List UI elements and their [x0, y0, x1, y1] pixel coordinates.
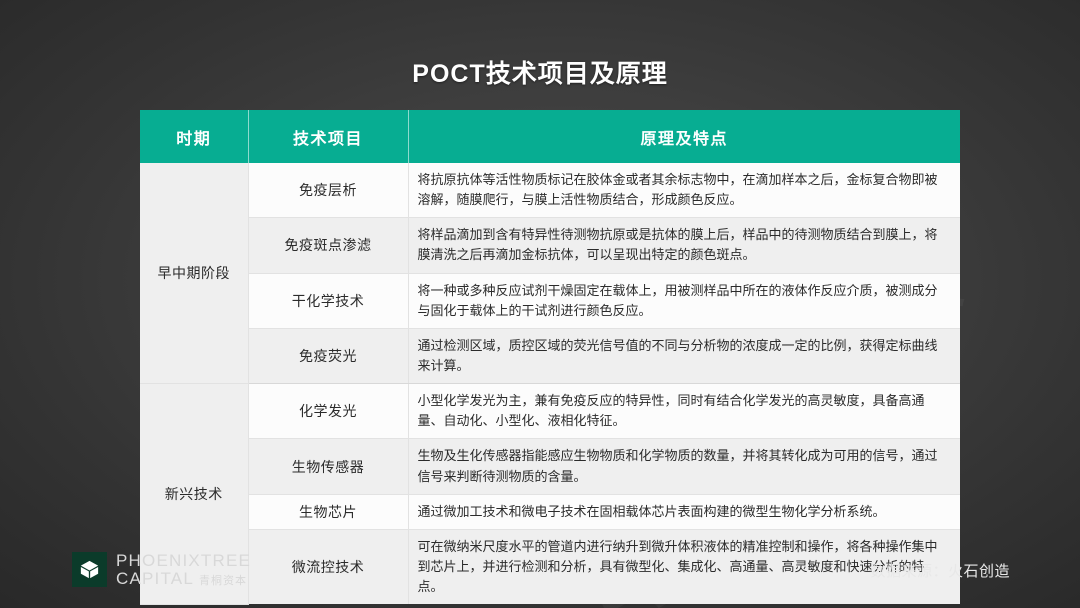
- technology-cell: 免疫荧光: [248, 328, 408, 383]
- logo-line-two-cn: 青桐资本: [199, 576, 247, 587]
- technology-cell: 免疫斑点渗滤: [248, 218, 408, 273]
- logo-line-one: PHOENIXTREE: [116, 552, 251, 570]
- table-row: 免疫荧光 通过检测区域，质控区域的荧光信号值的不同与分析物的浓度成一定的比例，获…: [140, 328, 960, 383]
- column-header-technology: 技术项目: [248, 110, 408, 163]
- slide-canvas: 青桐资本 青 POCT技术项目及原理 时期 技术项目 原理及特点 早中期阶段: [0, 0, 1080, 608]
- logo-line-two: CAPITAL 青桐资本: [116, 570, 251, 588]
- principle-cell: 小型化学发光为主，兼有免疫反应的特异性，同时有结合化学发光的高灵敏度，具备高通量…: [408, 384, 960, 439]
- principle-cell: 通过检测区域，质控区域的荧光信号值的不同与分析物的浓度成一定的比例，获得定标曲线…: [408, 328, 960, 383]
- logo-line-two-en: CAPITAL: [116, 570, 194, 588]
- technology-cell: 生物传感器: [248, 439, 408, 494]
- company-logo: PHOENIXTREE CAPITAL 青桐资本: [72, 552, 251, 587]
- table-header-row: 时期 技术项目 原理及特点: [140, 110, 960, 163]
- principle-cell: 将抗原抗体等活性物质标记在胶体金或者其余标志物中，在滴加样本之后，金标复合物即被…: [408, 163, 960, 218]
- principle-cell: 生物及生化传感器指能感应生物物质和化学物质的数量，并将其转化成为可用的信号，通过…: [408, 439, 960, 494]
- technology-cell: 生物芯片: [248, 494, 408, 529]
- table-row: 生物传感器 生物及生化传感器指能感应生物物质和化学物质的数量，并将其转化成为可用…: [140, 439, 960, 494]
- table-row: 干化学技术 将一种或多种反应试剂干燥固定在载体上，用被测样品中所在的液体作反应介…: [140, 273, 960, 328]
- technology-cell: 干化学技术: [248, 273, 408, 328]
- poct-table-container: 时期 技术项目 原理及特点 早中期阶段 免疫层析 将抗原抗体等活性物质标记在胶体…: [140, 110, 960, 605]
- poct-table: 时期 技术项目 原理及特点 早中期阶段 免疫层析 将抗原抗体等活性物质标记在胶体…: [140, 110, 960, 605]
- technology-cell: 免疫层析: [248, 163, 408, 218]
- table-row: 免疫斑点渗滤 将样品滴加到含有特异性待测物抗原或是抗体的膜上后，样品中的待测物质…: [140, 218, 960, 273]
- table-header: 时期 技术项目 原理及特点: [140, 110, 960, 163]
- data-source-label: 数据来源：火石创造: [870, 560, 1010, 581]
- technology-cell: 化学发光: [248, 384, 408, 439]
- column-header-principle: 原理及特点: [408, 110, 960, 163]
- table-body: 早中期阶段 免疫层析 将抗原抗体等活性物质标记在胶体金或者其余标志物中，在滴加样…: [140, 163, 960, 604]
- column-header-period: 时期: [140, 110, 248, 163]
- page-title: POCT技术项目及原理: [0, 54, 1080, 90]
- logo-wordmark: PHOENIXTREE CAPITAL 青桐资本: [116, 552, 251, 587]
- period-cell-early: 早中期阶段: [140, 163, 248, 384]
- phoenixtree-logo-icon: [72, 552, 107, 587]
- slide-footer: PHOENIXTREE CAPITAL 青桐资本 数据来源：火石创造: [0, 540, 1080, 608]
- principle-cell: 将一种或多种反应试剂干燥固定在载体上，用被测样品中所在的液体作反应介质，被测成分…: [408, 273, 960, 328]
- table-row: 新兴技术 化学发光 小型化学发光为主，兼有免疫反应的特异性，同时有结合化学发光的…: [140, 384, 960, 439]
- principle-cell: 通过微加工技术和微电子技术在固相载体芯片表面构建的微型生物化学分析系统。: [408, 494, 960, 529]
- table-row: 早中期阶段 免疫层析 将抗原抗体等活性物质标记在胶体金或者其余标志物中，在滴加样…: [140, 163, 960, 218]
- principle-cell: 将样品滴加到含有特异性待测物抗原或是抗体的膜上后，样品中的待测物质结合到膜上，将…: [408, 218, 960, 273]
- table-row: 生物芯片 通过微加工技术和微电子技术在固相载体芯片表面构建的微型生物化学分析系统…: [140, 494, 960, 529]
